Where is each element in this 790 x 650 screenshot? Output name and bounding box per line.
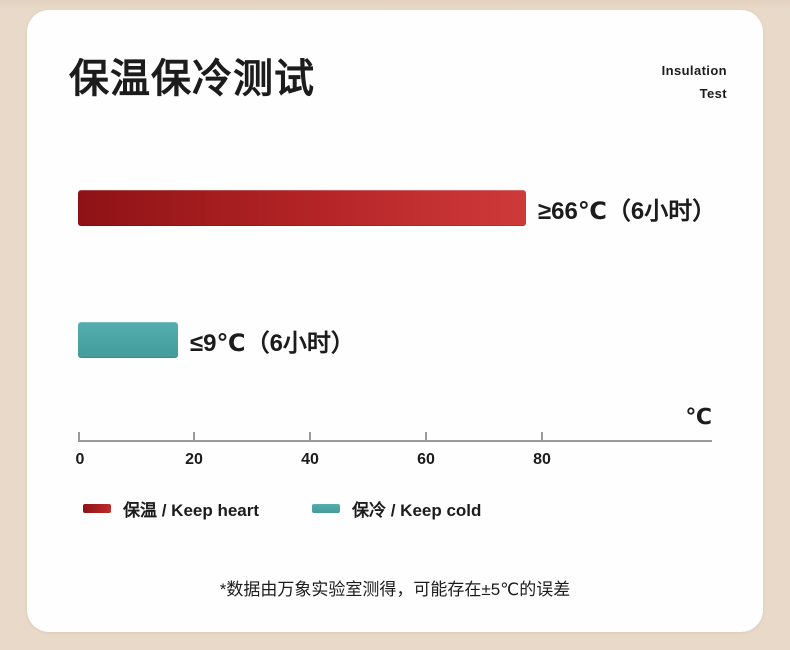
axis-tick-1 (193, 432, 195, 441)
legend-item-keep-heat: 保温 / Keep heart (83, 496, 259, 521)
page-title: 保温保冷测试 (69, 46, 315, 104)
bar-keep-heat (78, 190, 526, 226)
axis-tick-3 (425, 432, 427, 441)
legend-swatch-keep-cold (312, 504, 340, 513)
bar-row-keep-cold: ≤9℃（6小时） (27, 320, 763, 360)
temperature-bar-chart: ≥66℃（6小时） ≤9℃（6小时） 0 20 40 60 80 ℃ (27, 130, 763, 490)
legend-item-keep-cold: 保冷 / Keep cold (312, 496, 481, 521)
axis-line (78, 440, 712, 442)
axis-unit-label: ℃ (685, 404, 712, 430)
bar-keep-cold (78, 322, 178, 358)
axis-tick-label-0: 0 (76, 451, 85, 469)
axis-tick-label-3: 60 (417, 451, 435, 469)
axis-tick-4 (541, 432, 543, 441)
temperature-axis: 0 20 40 60 80 ℃ (78, 440, 712, 490)
header-subtitle-line1: Insulation (547, 60, 727, 83)
card-header: 保温保冷测试 Insulation Test (27, 10, 763, 130)
header-subtitle-line2: Test (547, 83, 727, 106)
legend-label-keep-cold: 保冷 / Keep cold (352, 496, 481, 521)
top-decorative-band (0, 0, 790, 9)
axis-tick-label-1: 20 (185, 451, 203, 469)
axis-tick-label-4: 80 (533, 451, 551, 469)
legend-swatch-keep-heat (83, 504, 111, 513)
axis-tick-2 (78, 432, 80, 441)
legend-label-keep-heat: 保温 / Keep heart (123, 496, 259, 521)
insulation-test-card: 保温保冷测试 Insulation Test ≥66℃（6小时） ≤9℃（6小时… (27, 10, 763, 632)
axis-tick-2b (309, 432, 311, 441)
footnote-disclaimer: *数据由万象实验室测得，可能存在±5℃的误差 (27, 575, 763, 600)
bar-label-keep-heat: ≥66℃（6小时） (538, 191, 716, 226)
bar-label-keep-cold: ≤9℃（6小时） (190, 323, 355, 358)
chart-legend: 保温 / Keep heart 保冷 / Keep cold (27, 496, 763, 526)
bar-row-keep-heat: ≥66℃（6小时） (27, 188, 763, 228)
axis-tick-label-2: 40 (301, 451, 319, 469)
header-subtitle: Insulation Test (547, 60, 727, 106)
